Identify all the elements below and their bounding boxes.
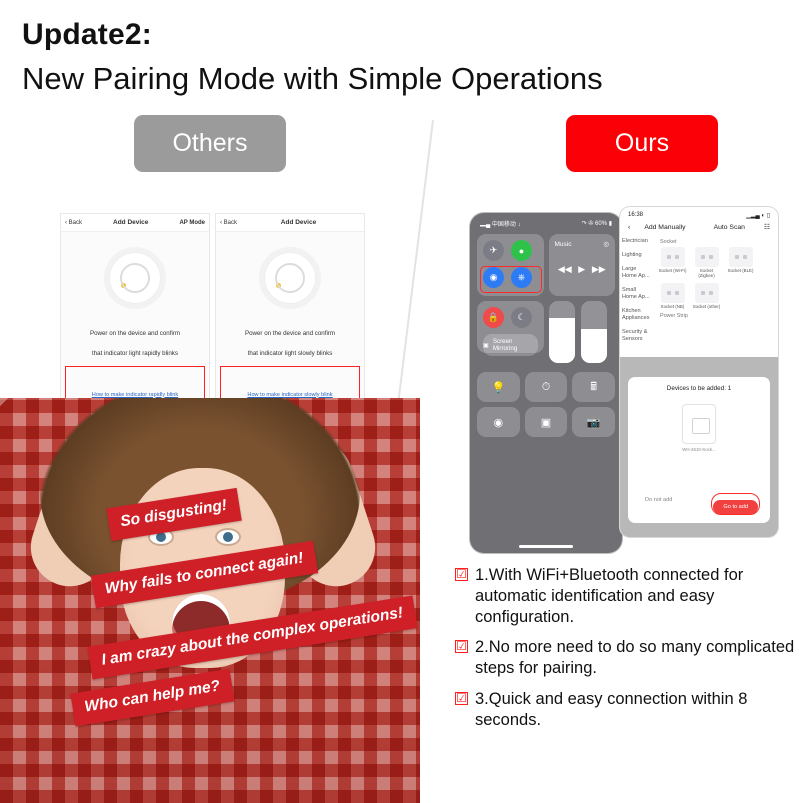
back-icon[interactable]: ‹ Back [220,220,237,226]
brightness-slider[interactable] [549,301,575,363]
indicator-dot-icon [276,283,281,288]
dialog-actions: Do not add Go to add [636,493,762,515]
page-subtitle: New Pairing Mode with Simple Operations [22,61,778,97]
camera-icon[interactable]: 📷 [572,407,615,437]
screen-nav-bar: ‹ Back Add Device AP Mode [61,214,209,232]
feature-text-2: 2.No more need to do so many complicated… [475,637,800,679]
ap-mode-label[interactable]: AP Mode [179,220,205,226]
device-label: Socket (NB) [661,304,685,309]
list-item[interactable]: Socket (Zigbee) [692,247,721,279]
devices-to-add-dialog: Devices to be added: 1 WH-2610-Sock... D… [628,377,770,523]
others-column: ‹ Back Add Device AP Mode Power on the d… [0,213,420,453]
timer-icon[interactable]: ⏱ [525,372,568,402]
list-item: ☑ 3.Quick and easy connection within 8 s… [455,689,800,731]
record-icon[interactable]: ◉ [477,407,520,437]
music-label: Music [555,241,572,248]
home-indicator [519,545,573,548]
section-title-socket: Socket [660,239,774,245]
header-block: Update2: New Pairing Mode with Simple Op… [0,0,800,97]
airdrop-icon[interactable]: ● [511,240,532,261]
indicator-dot-icon [121,283,126,288]
back-icon[interactable]: ‹ Back [65,220,82,226]
device-grid: Socket Socket (Wi-Fi) Socket (Zigbee) So… [654,235,778,353]
device-illustration [61,232,209,324]
badge-others: Others [134,115,286,172]
status-battery: ↷ ✇ 60% ▮ [582,220,612,227]
list-item[interactable]: Socket (other) [692,283,721,309]
device-label: Socket (BLE) [728,268,754,273]
check-box-icon: ☑ [455,640,468,653]
lock-dnd-tile[interactable]: 🔒 ☾ ▣ Screen Mirroring [477,301,544,353]
highlight-box-wifi-bluetooth [480,266,542,293]
socket-icon [695,283,719,303]
status-bar: ▂▄ 中国移动 ↓ ↷ ✇ 60% ▮ [470,213,622,230]
list-item[interactable]: Socket (BLE) [726,247,755,279]
frustrated-user-photo [0,398,420,803]
feature-text-3: 3.Quick and easy connection within 8 sec… [475,689,800,731]
help-link[interactable]: How to make indicator rapidly blink [61,392,209,398]
previous-track-icon[interactable]: ◀◀ [558,264,572,275]
volume-slider[interactable] [581,301,607,363]
check-box-icon: ☑ [455,568,468,581]
socket-icon [729,247,753,267]
app-add-device-screenshot: 16:38 ▁▂▄ ◐ ▯ ‹ Add Manually Auto Scan ☷… [620,207,778,537]
app-content: Electrician Lighting Large Home Ap... Sm… [620,235,778,353]
instruction-line-2: that indicator light rapidly blinks [61,344,209,364]
music-tile[interactable]: Music ◎ ◀◀ ▶ ▶▶ [549,234,616,296]
screen-title: Add Device [241,219,356,226]
device-label: Socket (Wi-Fi) [659,268,687,273]
tab-auto-scan[interactable]: Auto Scan [700,224,759,231]
device-label: Socket (other) [693,304,721,309]
socket-icon [661,247,685,267]
list-item[interactable]: Socket (Wi-Fi) [658,247,687,279]
list-item: ☑ 1.With WiFi+Bluetooth connected for au… [455,565,800,628]
device-donut-icon [104,247,166,309]
connectivity-tile[interactable]: ✈ ● ◉ ⎈ [477,234,544,296]
page-title: Update2: [22,18,778,51]
rotation-lock-icon[interactable]: 🔒 [483,307,504,328]
list-item: ☑ 2.No more need to do so many complicat… [455,637,800,679]
sidebar-item-large-home-ap[interactable]: Large Home Ap... [622,266,652,280]
shortcuts-grid: 💡 ⏱ 🖩 ◉ ▣ 📷 [470,372,622,437]
calculator-icon[interactable]: 🖩 [572,372,615,402]
status-carrier: ▂▄ 中国移动 ↓ [480,219,521,228]
sidebar-item-lighting[interactable]: Lighting [622,252,652,259]
qr-scan-icon[interactable]: ▣ [525,407,568,437]
highlight-box-go-to-add: Go to add [711,493,760,515]
device-donut-icon [259,247,321,309]
socket-icon [661,283,685,303]
section-title-power-strip: Power Strip [660,313,774,319]
go-to-add-button[interactable]: Go to add [713,500,758,514]
sidebar-item-small-home-ap[interactable]: Small Home Ap... [622,287,652,301]
app-nav-bar: ‹ Add Manually Auto Scan ☷ [620,221,778,235]
sidebar-item-security-sensors[interactable]: Security & Sensors [622,329,652,343]
sidebar-item-kitchen-appliances[interactable]: Kitchen Appliances [622,308,652,322]
airplay-icon[interactable]: ◎ [603,240,609,248]
help-link[interactable]: How to make indicator slowly blink [216,392,364,398]
control-center-grid: ✈ ● ◉ ⎈ Music ◎ ◀◀ ▶ ▶▶ [470,230,622,367]
category-list: Electrician Lighting Large Home Ap... Sm… [620,235,654,353]
moon-icon[interactable]: ☾ [511,307,532,328]
instruction-line-1: Power on the device and confirm [216,324,364,344]
screen-title: Add Device [86,219,175,226]
badge-ours: Ours [566,115,718,172]
control-center-screenshot: ▂▄ 中国移动 ↓ ↷ ✇ 60% ▮ ✈ ● ◉ ⎈ Music ◎ [470,213,622,553]
screen-mirroring-button[interactable]: ▣ Screen Mirroring [483,334,538,356]
feature-text-1: 1.With WiFi+Bluetooth connected for auto… [475,565,800,628]
chevron-left-icon[interactable]: ‹ [628,224,630,231]
device-label: Socket (Zigbee) [698,268,714,278]
status-time: 16:38 [628,212,643,219]
device-thumbnail [682,404,716,444]
dialog-title: Devices to be added: 1 [667,385,731,392]
screen-nav-bar: ‹ Back Add Device [216,214,364,232]
airplane-icon[interactable]: ✈ [483,240,504,261]
check-box-icon: ☑ [455,692,468,705]
list-item[interactable]: Socket (NB) [658,283,687,309]
instruction-line-1: Power on the device and confirm [61,324,209,344]
comparison-badges: Others Ours [0,115,800,187]
sliders-group [549,301,616,363]
play-icon[interactable]: ▶ [578,264,585,275]
next-track-icon[interactable]: ▶▶ [592,264,606,275]
status-bar: 16:38 ▁▂▄ ◐ ▯ [620,207,778,221]
sidebar-item-electrician[interactable]: Electrician [622,238,652,245]
do-not-add-button[interactable]: Do not add [638,493,679,515]
device-row: Socket (Wi-Fi) Socket (Zigbee) Socket (B… [658,247,774,279]
instruction-line-2: that indicator light slowly blinks [216,344,364,364]
device-name: WH-2610-Sock... [682,447,715,452]
device-illustration [216,232,364,324]
more-options-icon[interactable]: ☷ [764,223,770,231]
status-indicators-icon: ▁▂▄ ◐ ▯ [746,212,770,219]
screen-mirroring-icon: ▣ [483,342,489,349]
screen-mirroring-label: Screen Mirroring [493,338,538,352]
flashlight-icon[interactable]: 💡 [477,372,520,402]
socket-icon [695,247,719,267]
photo-shading [0,398,420,803]
tab-add-manually[interactable]: Add Manually [635,224,694,231]
feature-list: ☑ 1.With WiFi+Bluetooth connected for au… [455,565,800,740]
device-row: Socket (NB) Socket (other) [658,283,774,309]
